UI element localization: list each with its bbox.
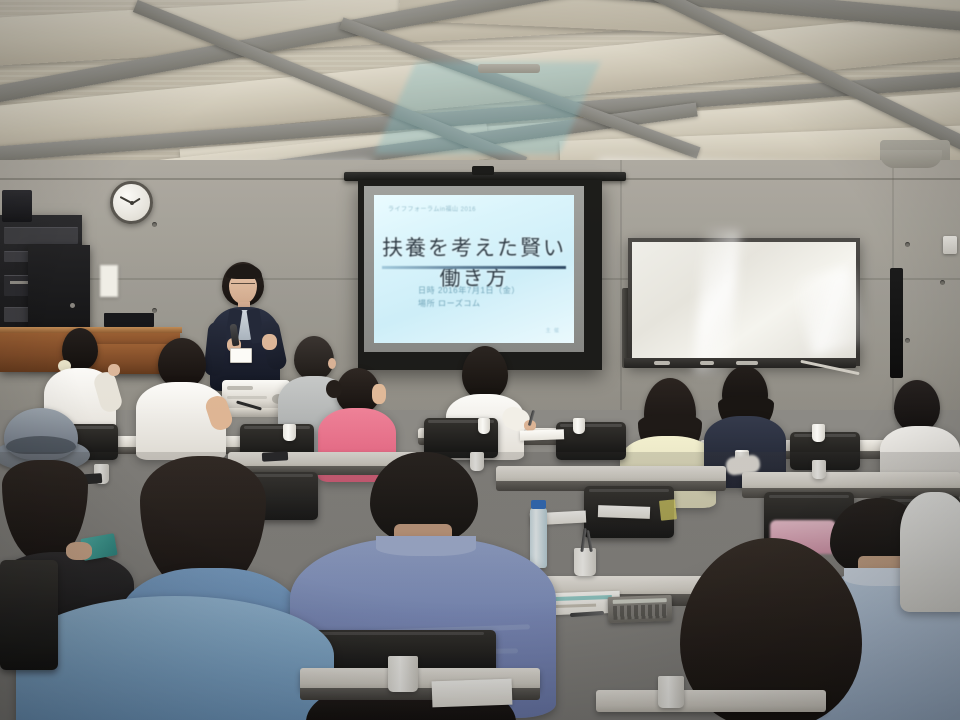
paper-cup [573,418,585,434]
slide-divider [382,266,566,269]
slide-footer: 主 催 [546,327,560,334]
name-badge [230,348,252,363]
wall-conduit-slot [890,268,903,378]
av-monitor [2,190,32,222]
attendee-powder-blue-shirt [16,596,336,720]
head [462,346,508,400]
ballpoint-pen [570,611,604,617]
head [894,380,940,432]
ceiling-fixture [478,64,540,73]
paper-cup [478,418,490,434]
presenter-fringe [226,264,262,279]
table-row-foreground [596,690,826,712]
hand [66,542,92,560]
paper-cup [812,424,825,442]
paper-cup [658,676,684,708]
wall-vent [104,313,154,327]
paper-cup [812,460,826,479]
slide-date: 日時 2016年7月1日（金） [418,284,520,298]
screen-bracket [472,166,494,175]
head [158,338,206,388]
face-profile [372,384,386,404]
presentation-slide: ライフフォーラムin福山 2016 扶養を考えた賢い働き方 日時 2016年7月… [374,195,574,343]
paper-cup [574,548,596,576]
handout-document [432,679,513,708]
handout-document [520,429,564,441]
chair [556,422,626,460]
paper-cup [283,424,296,441]
attendee-white-shirt-far-right [900,492,960,612]
whiteboard [628,238,860,366]
presenter-glasses [231,283,255,289]
attendee-white-top-left-2 [136,338,228,448]
presenter-hand-gesture [262,334,277,350]
ceiling [0,0,960,185]
slide-meta: 日時 2016年7月1日（金） 場所 ローズコム [418,284,520,311]
wall-box [943,236,957,254]
handout-document [598,505,650,519]
slide-kicker: ライフフォーラムin福山 2016 [388,204,476,213]
gray-fedora-hat [4,408,78,460]
torso [16,596,334,720]
handout-highlight [659,499,677,521]
collar [376,536,476,556]
wall-speaker [880,150,942,168]
torso [900,492,960,612]
chair [0,560,58,670]
calculator [608,595,673,623]
slide-place: 場所 ローズコム [418,297,520,311]
paper-cup [388,656,418,692]
projection-screen: ライフフォーラムin福山 2016 扶養を考えた賢い働き方 日時 2016年7月… [358,180,602,370]
hair-bun [326,380,342,398]
analog-wall-clock [110,181,153,224]
hand [108,364,120,376]
wall-notice [100,265,118,297]
seminar-room-photo: ライフフォーラムin福山 2016 扶養を考えた賢い働き方 日時 2016年7月… [0,0,960,720]
